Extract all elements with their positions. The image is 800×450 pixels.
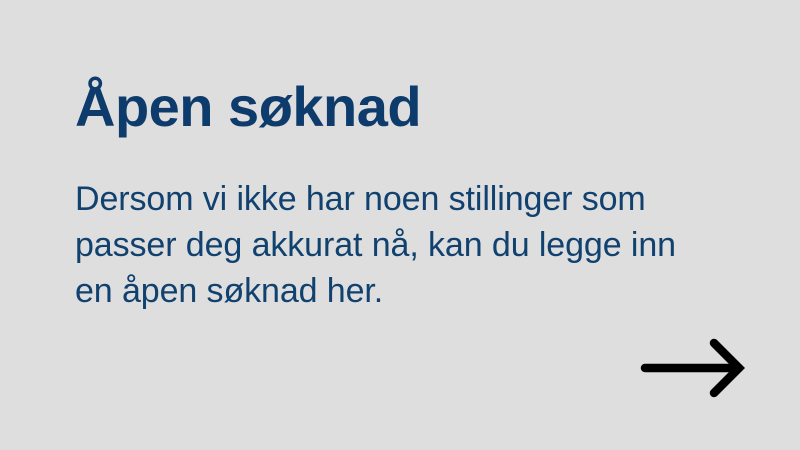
- card-description: Dersom vi ikke har noen stillinger som p…: [75, 176, 700, 314]
- open-application-card[interactable]: Åpen søknad Dersom vi ikke har noen stil…: [0, 0, 800, 450]
- page-title: Åpen søknad: [75, 75, 421, 139]
- arrow-right-icon: [638, 338, 750, 400]
- open-application-arrow-button[interactable]: [638, 338, 750, 400]
